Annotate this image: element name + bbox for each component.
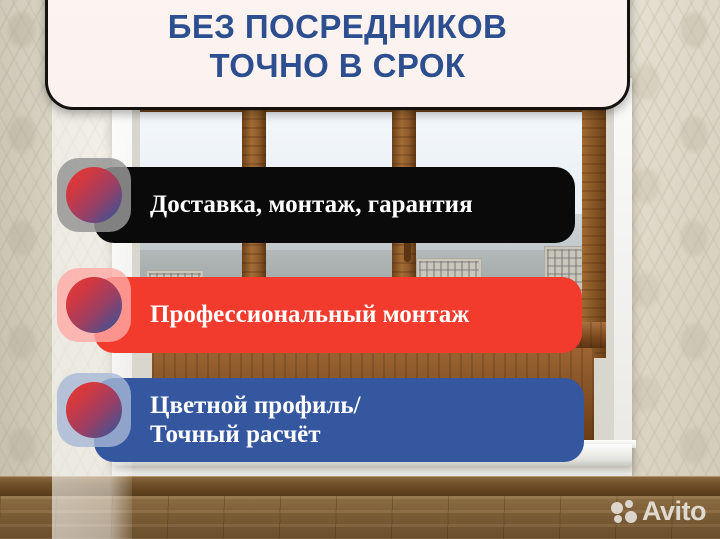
feature-label-profile-line-2: Точный расчёт: [150, 420, 361, 449]
avito-dots-logo-icon: [611, 500, 637, 524]
headline-line-2: ТОЧНО В СРОК: [210, 47, 466, 86]
feature-icon-chip: [57, 158, 131, 232]
feature-label-installation: Профессиональный монтаж: [94, 277, 582, 353]
gradient-circle-icon: [66, 382, 122, 438]
feature-icon-chip: [57, 373, 131, 447]
headline-line-1: БЕЗ ПОСРЕДНИКОВ: [168, 8, 508, 47]
window-frame-right: [582, 100, 606, 358]
gradient-circle-icon: [66, 277, 122, 333]
feature-icon-chip: [57, 268, 131, 342]
gradient-circle-icon: [66, 167, 122, 223]
feature-label-delivery: Доставка, монтаж, гарантия: [94, 167, 575, 243]
feature-label-profile: Цветной профиль/ Точный расчёт: [94, 378, 584, 462]
advertisement-banner: БЕЗ ПОСРЕДНИКОВ ТОЧНО В СРОК Доставка, м…: [0, 0, 720, 539]
feature-label-profile-line-1: Цветной профиль/: [150, 391, 361, 420]
avito-wordmark: Avito: [642, 498, 706, 525]
headline-card: БЕЗ ПОСРЕДНИКОВ ТОЧНО В СРОК: [45, 0, 630, 110]
avito-watermark: Avito: [611, 498, 706, 525]
